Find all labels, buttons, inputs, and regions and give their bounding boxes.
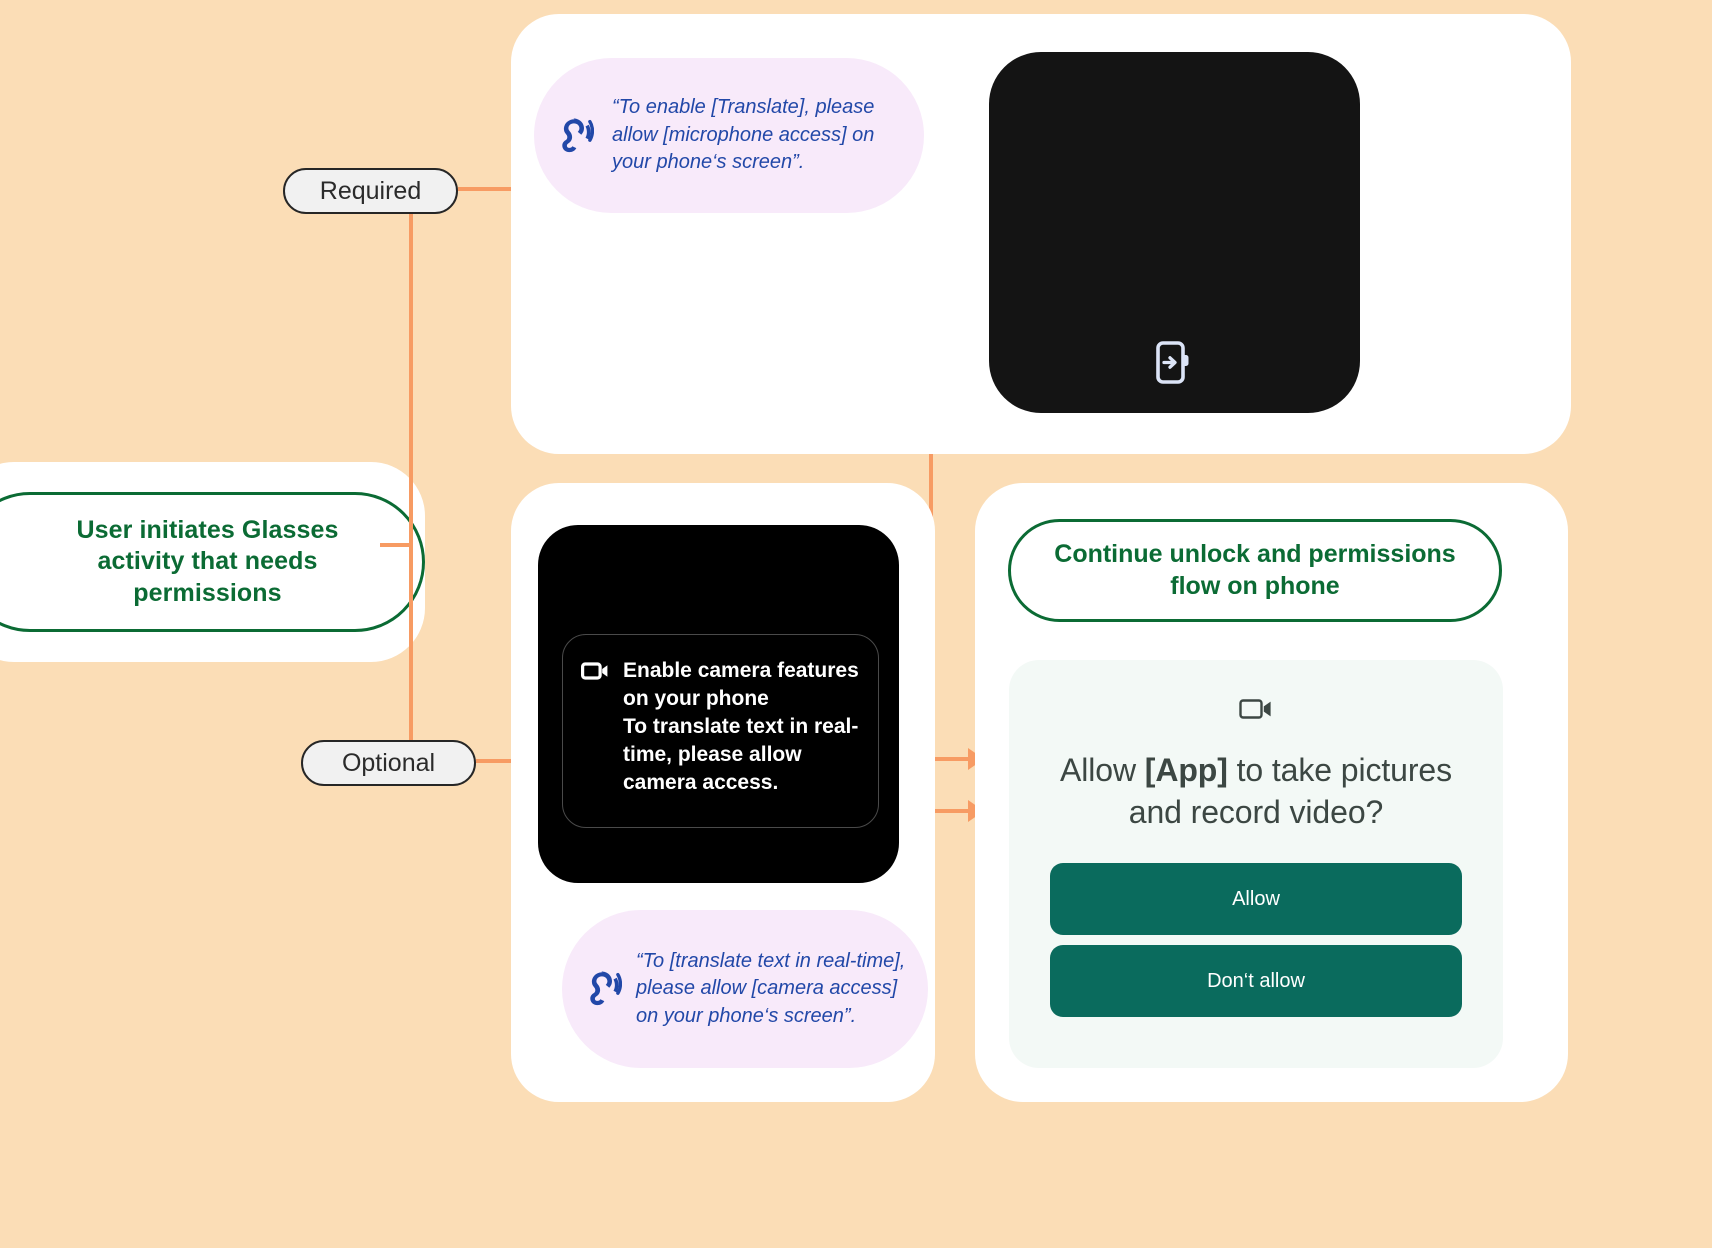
video-camera-icon <box>581 660 609 827</box>
connector-vertical-trunk <box>409 190 413 763</box>
connector-mic-to-phone-line <box>929 757 972 761</box>
glasses-card-body: To translate text in real-time, please a… <box>623 713 860 797</box>
microphone-voice-prompt-bubble: “To enable [Translate], please allow [mi… <box>534 58 924 213</box>
connector-start-stub <box>380 543 412 547</box>
continue-on-phone-node: Continue unlock and permissions flow on … <box>1008 519 1502 622</box>
dont-allow-button[interactable]: Don‘t allow <box>1050 945 1462 1017</box>
allow-button[interactable]: Allow <box>1050 863 1462 935</box>
video-camera-icon <box>1239 696 1273 727</box>
start-node-label: User initiates Glasses activity that nee… <box>33 515 382 609</box>
android-permission-dialog: Allow [App] to take pictures and record … <box>1009 660 1503 1068</box>
permission-question: Allow [App] to take pictures and record … <box>1036 749 1476 833</box>
branch-badge-required-label: Required <box>320 177 421 206</box>
phone-unlock-arrow-icon <box>1152 340 1194 385</box>
camera-voice-prompt-bubble: “To [translate text in real-time], pleas… <box>562 910 928 1068</box>
continue-on-phone-label: Continue unlock and permissions flow on … <box>1035 539 1475 602</box>
glasses-card-title: Enable camera features on your phone <box>623 657 860 713</box>
start-node: User initiates Glasses activity that nee… <box>0 492 425 632</box>
camera-prompt-text: “To [translate text in real-time], pleas… <box>636 948 908 1030</box>
branch-badge-required: Required <box>283 168 458 214</box>
branch-badge-optional: Optional <box>301 740 476 786</box>
ear-hearing-icon <box>586 969 622 1009</box>
ear-hearing-icon <box>558 116 594 156</box>
diagram-canvas: User initiates Glasses activity that nee… <box>0 0 1712 1248</box>
permission-app-name: [App] <box>1145 752 1228 788</box>
microphone-prompt-text: “To enable [Translate], please allow [mi… <box>612 94 900 176</box>
glasses-card-text: Enable camera features on your phone To … <box>623 657 860 827</box>
glasses-camera-notification-card: Enable camera features on your phone To … <box>562 634 879 828</box>
connector-required-line <box>458 187 513 191</box>
permission-question-prefix: Allow <box>1060 752 1145 788</box>
branch-badge-optional-label: Optional <box>342 749 435 778</box>
